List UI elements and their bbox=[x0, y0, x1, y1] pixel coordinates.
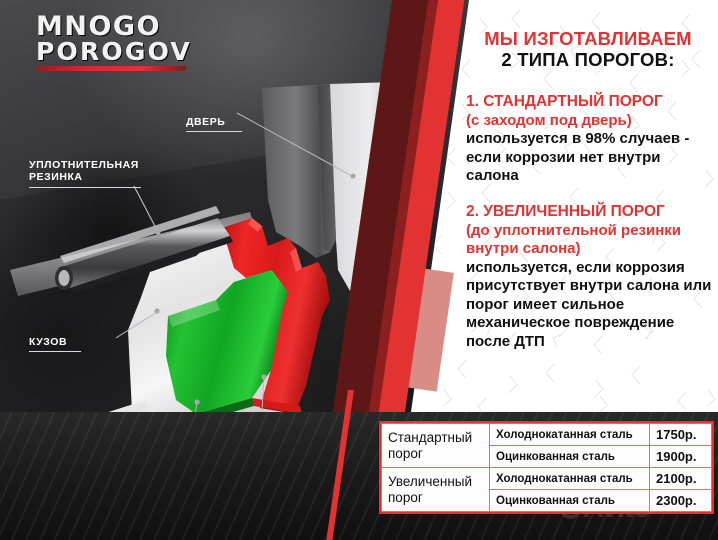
label-rubber-seal: УПЛОТНИТЕЛЬНАЯ РЕЗИНКА bbox=[29, 146, 141, 200]
price-steel-3: Холоднокатанная сталь bbox=[490, 468, 650, 490]
price-kind-standard: Стандартный порог bbox=[382, 424, 490, 468]
price-value-1: 1750р. bbox=[650, 424, 712, 446]
poster-root: ДВЕРЬ УПЛОТНИТЕЛЬНАЯ РЕЗИНКА КУЗОВ СТАНД… bbox=[0, 0, 718, 540]
label-body-underline bbox=[29, 351, 81, 352]
info-block-extended: 2. УВЕЛИЧЕННЫЙ ПОРОГ (до уплотнительной … bbox=[466, 203, 716, 351]
logo-line-1: MNOGO bbox=[36, 14, 196, 39]
table-row: Стандартный порог Холоднокатанная сталь … bbox=[382, 424, 712, 446]
price-table: Стандартный порог Холоднокатанная сталь … bbox=[381, 423, 712, 512]
brand-logo: MNOGO POROGOV bbox=[36, 14, 196, 71]
table-row: Увеличенный порог Холоднокатанная сталь … bbox=[382, 468, 712, 490]
info-block-extended-body: используется, если коррозия присутствует… bbox=[466, 259, 716, 352]
info-block-standard-subtitle: (с заходом под дверь) bbox=[466, 112, 716, 131]
price-steel-4: Оцинкованная сталь bbox=[490, 490, 650, 512]
label-door-underline bbox=[186, 131, 242, 132]
headline-line-1: МЫ ИЗГОТАВЛИВАЕМ bbox=[462, 28, 714, 49]
info-block-standard-title: 1. СТАНДАРТНЫЙ ПОРОГ bbox=[466, 93, 716, 112]
label-body: КУЗОВ bbox=[29, 323, 81, 365]
price-kind-extended: Увеличенный порог bbox=[382, 468, 490, 512]
info-block-standard: 1. СТАНДАРТНЫЙ ПОРОГ (с заходом под двер… bbox=[466, 93, 716, 186]
info-block-extended-title: 2. УВЕЛИЧЕННЫЙ ПОРОГ bbox=[466, 203, 716, 222]
info-block-standard-body: используется в 98% случаев - если корроз… bbox=[466, 130, 716, 186]
label-rubber-seal-text: УПЛОТНИТЕЛЬНАЯ РЕЗИНКА bbox=[29, 159, 139, 184]
price-value-4: 2300р. bbox=[650, 490, 712, 512]
label-rubber-seal-underline bbox=[29, 187, 141, 188]
label-body-text: КУЗОВ bbox=[29, 336, 67, 348]
logo-line-2: POROGOV bbox=[36, 39, 196, 64]
price-value-3: 2100р. bbox=[650, 468, 712, 490]
info-block-extended-subtitle: (до уплотнительной резинки внутри салона… bbox=[466, 222, 716, 259]
price-steel-2: Оцинкованная сталь bbox=[490, 446, 650, 468]
price-value-2: 1900р. bbox=[650, 446, 712, 468]
headline: МЫ ИЗГОТАВЛИВАЕМ 2 ТИПА ПОРОГОВ: bbox=[462, 28, 714, 70]
headline-line-2: 2 ТИПА ПОРОГОВ: bbox=[462, 49, 714, 70]
label-door-text: ДВЕРЬ bbox=[186, 116, 225, 128]
label-door: ДВЕРЬ bbox=[186, 103, 242, 145]
price-steel-1: Холоднокатанная сталь bbox=[490, 424, 650, 446]
logo-red-bar bbox=[35, 66, 187, 71]
